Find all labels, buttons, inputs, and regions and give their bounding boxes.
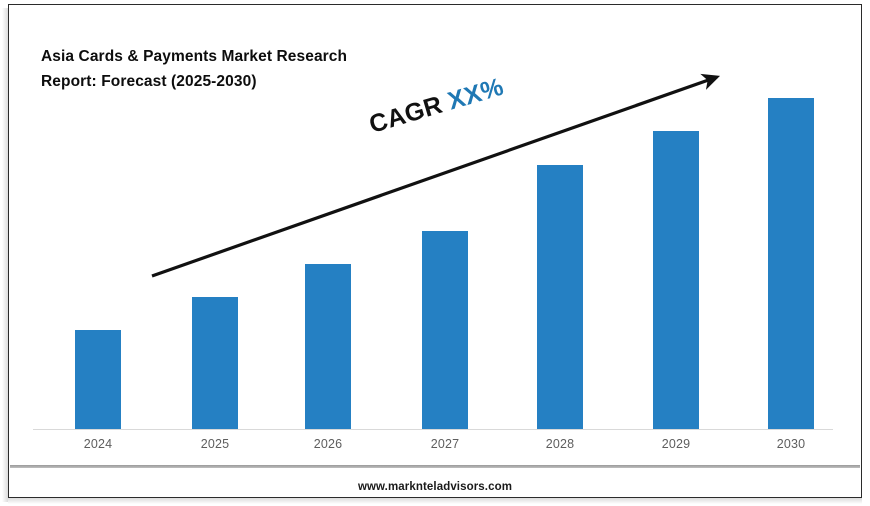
cagr-growth-arrow-icon xyxy=(0,0,870,506)
footer-divider xyxy=(10,465,860,468)
chart-canvas: Asia Cards & Payments Market Research Re… xyxy=(0,0,870,506)
footer-url: www.marknteladvisors.com xyxy=(0,481,870,493)
